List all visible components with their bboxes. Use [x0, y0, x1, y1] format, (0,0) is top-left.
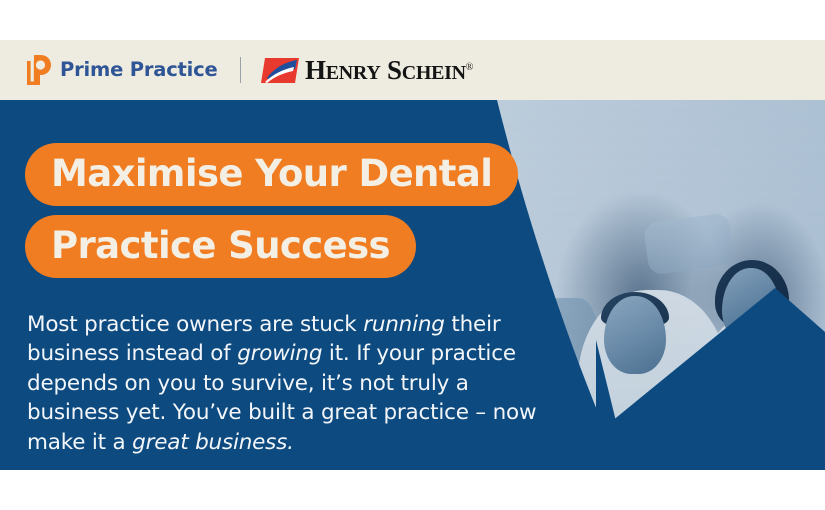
prime-practice-wordmark: Prime Practice	[60, 60, 218, 80]
body-copy-segment-5: great business.	[132, 430, 294, 455]
henry-schein-text-henry: H	[305, 55, 326, 85]
body-copy-segment-1: running	[363, 312, 445, 337]
headline-pill-line-2: Practice Success	[25, 215, 416, 278]
brand-header-band: Prime Practice HENRY SCHEIN®	[0, 40, 825, 100]
henry-schein-wordmark: HENRY SCHEIN®	[305, 57, 473, 84]
body-copy-segment-0: Most practice owners are stuck	[27, 312, 363, 337]
henry-schein-text-henry-rest: ENRY	[326, 62, 381, 84]
banner-root: Prime Practice HENRY SCHEIN®	[0, 0, 825, 510]
henry-schein-swoosh-icon	[261, 58, 299, 83]
body-copy-segment-3: growing	[237, 341, 322, 366]
hero-body-copy: Most practice owners are stuck running t…	[27, 310, 547, 458]
headline-pill-line-1: Maximise Your Dental	[25, 143, 518, 206]
henry-schein-text-schein-rest: CHEIN	[402, 62, 466, 84]
headline-group: Maximise Your Dental Practice Success	[25, 143, 518, 278]
brand-divider	[240, 57, 242, 83]
hero-section: Maximise Your Dental Practice Success Mo…	[0, 100, 825, 470]
registered-trademark-icon: ®	[466, 62, 473, 73]
henry-schein-lockup: HENRY SCHEIN®	[261, 57, 473, 84]
henry-schein-text-schein: S	[387, 55, 402, 85]
prime-practice-p-icon	[27, 55, 51, 85]
brand-lockup: Prime Practice HENRY SCHEIN®	[27, 55, 473, 85]
